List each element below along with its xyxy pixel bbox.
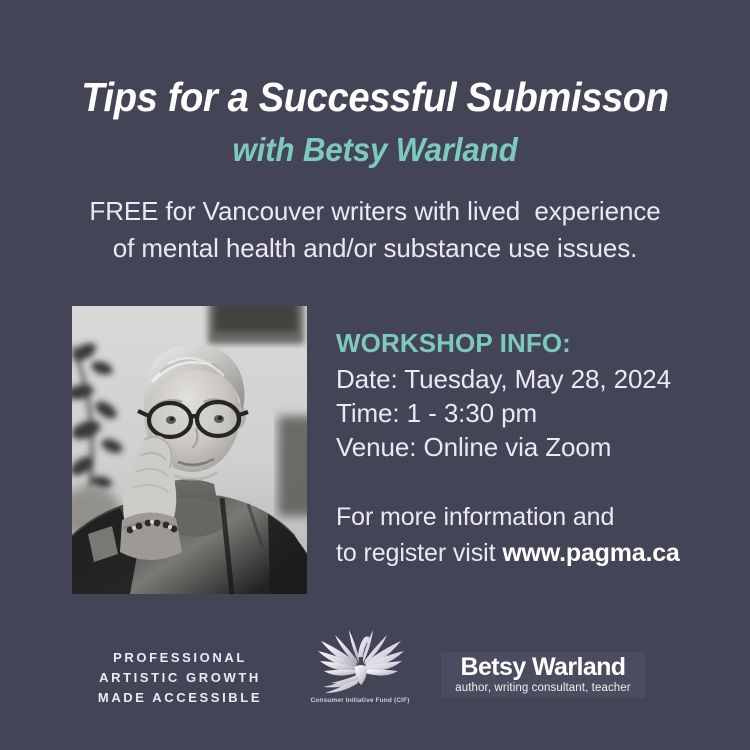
register-url-link[interactable]: www.pagma.ca [502,539,679,567]
register-line-2-text: to register visit [336,539,502,567]
pagma-tagline-line-3: MADE ACCESSIBLE [85,688,275,708]
workshop-poster: Tips for a Successful Submisson with Bet… [0,0,750,750]
pagma-tagline-line-2: ARTISTIC GROWTH [85,668,275,688]
pagma-tagline-line-1: PROFESSIONAL [85,648,275,668]
betsy-warland-logo-name: Betsy Warland [445,655,641,681]
pagma-logo-tagline: PROFESSIONAL ARTISTIC GROWTH MADE ACCESS… [85,648,275,707]
bird-wings-icon [311,627,409,695]
betsy-warland-logo-role: author, writing consultant, teacher [445,682,641,695]
page-title: Tips for a Successful Submisson [26,76,724,119]
registration-block: For more information and to register vis… [336,500,736,571]
presenter-portrait-photo [72,306,307,594]
workshop-time: Time: 1 - 3:30 pm [336,396,726,430]
register-line-1: For more information and [336,500,736,536]
presenter-name: with Betsy Warland [19,132,732,168]
eligibility-line-1: FREE for Vancouver writers with lived ex… [0,193,750,230]
workshop-date: Date: Tuesday, May 28, 2024 [336,362,726,396]
portrait-image [72,306,307,594]
headline-block: Tips for a Successful Submisson with Bet… [0,76,750,169]
workshop-venue: Venue: Online via Zoom [336,430,726,464]
register-line-2: to register visit www.pagma.ca [336,536,736,572]
eligibility-line-2: of mental health and/or substance use is… [0,230,750,267]
betsy-warland-logo: Betsy Warland author, writing consultant… [441,652,645,698]
eligibility-block: FREE for Vancouver writers with lived ex… [0,193,750,267]
workshop-info-heading: WORKSHOP INFO: [336,327,726,360]
cif-logo: Consumer Initiative Fund (CIF) [298,627,422,704]
workshop-info-block: WORKSHOP INFO: Date: Tuesday, May 28, 20… [336,327,726,465]
cif-logo-caption: Consumer Initiative Fund (CIF) [298,697,422,704]
